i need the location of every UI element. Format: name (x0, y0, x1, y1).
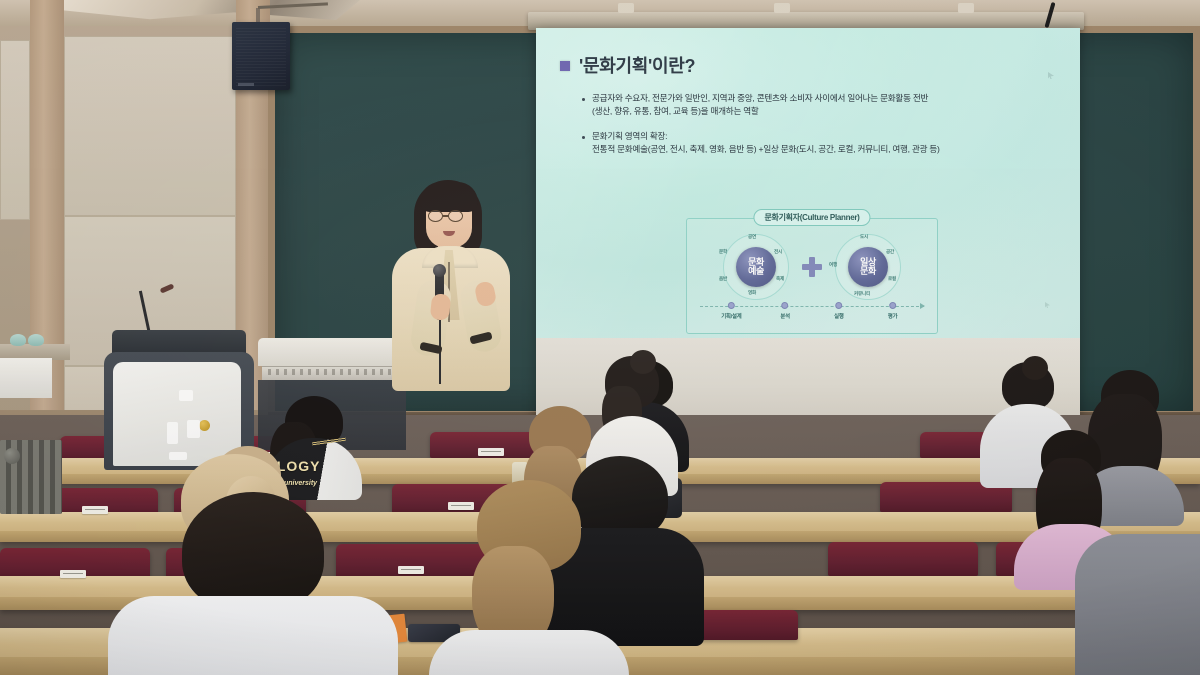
timeline-arrow-icon (920, 303, 925, 309)
timeline-pin-icon (835, 302, 842, 309)
student-top (108, 596, 398, 675)
student-hair-bun (630, 350, 656, 374)
bullet-line: 문화기획 영역의 확장: (592, 131, 667, 141)
satellite-label: 문학 (719, 249, 727, 255)
satellite-label: 커뮤니티 (854, 291, 870, 297)
culture-art-circle: 문화 예술 (736, 247, 776, 287)
bullet-line: 전통적 문화예술(공연, 전시, 축제, 영화, 음반 등) +일상 문화(도시… (592, 143, 940, 156)
keyboard-icon (268, 369, 394, 375)
cup-icon (28, 334, 44, 346)
eyeglasses-icon (428, 210, 443, 222)
screen-mount (618, 3, 634, 13)
wall-pillar (30, 0, 64, 470)
presenter-fringe (420, 182, 478, 212)
circle-label-line: 예술 (748, 267, 764, 276)
lectern-emblem-icon (199, 420, 210, 431)
square-bullet-icon (560, 61, 570, 71)
satellite-label: 공연 (748, 234, 756, 240)
presenter (386, 176, 516, 391)
lectern-sticker (187, 420, 200, 438)
seat-number-plate (82, 506, 108, 514)
wall-speaker-icon (232, 22, 290, 90)
student-front-center (118, 492, 388, 675)
lecture-hall-photo: '문화기획'이란? 공급자와 수요자, 전문가와 일반인, 지역과 중앙, 콘텐… (0, 0, 1200, 675)
timeline-step: 분석 (780, 300, 790, 320)
slide-bullet: 문화기획 영역의 확장: 전통적 문화예술(공연, 전시, 축제, 영화, 음반… (582, 130, 1058, 157)
microphone-head-icon (433, 264, 446, 277)
satellite-label: 축제 (776, 276, 784, 282)
satellite-label: 여행 (829, 262, 837, 268)
satellite-label: 전시 (774, 249, 782, 255)
storage-box (0, 358, 52, 398)
bullet-line: 공급자와 수요자, 전문가와 일반인, 지역과 중앙, 콘텐츠와 소비자 사이에… (592, 93, 928, 103)
timeline-pin-icon (782, 302, 789, 309)
diagram-right-group: 도시 공간 로컬 커뮤니티 여행 일상 문화 (828, 234, 908, 300)
timeline-step-label: 평가 (888, 312, 898, 320)
seat-number-plate (398, 566, 424, 574)
wall-panel (0, 40, 30, 220)
slide-bullet-text: 공급자와 수요자, 전문가와 일반인, 지역과 중앙, 콘텐츠와 소비자 사이에… (592, 92, 928, 119)
diagram-title-badge: 문화기획자(Culture Planner) (753, 209, 870, 226)
satellite-label: 공간 (886, 249, 894, 255)
slide-title: '문화기획'이란? (579, 52, 695, 78)
timeline-step-label: 분석 (780, 312, 790, 320)
slide-bullet-text: 문화기획 영역의 확장: 전통적 문화예술(공연, 전시, 축제, 영화, 음반… (592, 130, 940, 157)
bullet-line: (생산, 향유, 유통, 참여, 교육 등)을 매개하는 역할 (592, 105, 928, 118)
slide-diagram: 문화기획자(Culture Planner) 공연 전시 축제 영화 음반 문학… (686, 218, 938, 334)
slide-bullet: 공급자와 수요자, 전문가와 일반인, 지역과 중앙, 콘텐츠와 소비자 사이에… (582, 92, 1058, 119)
satellite-label: 로컬 (888, 276, 896, 282)
eyeglasses-bridge (443, 215, 449, 217)
screen-mount (958, 3, 974, 13)
slide-bullet-list: 공급자와 수요자, 전문가와 일반인, 지역과 중앙, 콘텐츠와 소비자 사이에… (560, 92, 1058, 156)
screen-mount (774, 3, 790, 13)
timeline-step-label: 실행 (834, 312, 844, 320)
radiator-valve-icon (4, 448, 20, 464)
diagram-timeline: 기획/설계 분석 실행 평가 (700, 300, 924, 326)
speaker-brand-mark (238, 83, 254, 86)
diagram-left-group: 공연 전시 축제 영화 음반 문학 문화 예술 (716, 234, 796, 300)
presentation-slide: '문화기획'이란? 공급자와 수요자, 전문가와 일반인, 지역과 중앙, 콘텐… (536, 28, 1080, 338)
slide-title-row: '문화기획'이란? (560, 52, 1058, 78)
student-top (429, 630, 629, 675)
student-hair (182, 492, 324, 612)
eyeglasses-icon (448, 210, 463, 222)
satellite-label: 음반 (719, 276, 727, 282)
speaker-grille (236, 26, 286, 86)
av-desk-top (258, 338, 406, 366)
satellite-label: 도시 (860, 234, 868, 240)
cup-icon (10, 334, 26, 346)
timeline-step: 기획/설계 (721, 300, 741, 320)
mouse-cursor-icon (1045, 302, 1050, 308)
timeline-step: 평가 (888, 300, 898, 320)
timeline-step-label: 기획/설계 (721, 312, 741, 320)
seat-number-plate (60, 570, 86, 578)
timeline-step: 실행 (834, 300, 844, 320)
student-ponytail-foreground (436, 480, 622, 675)
seat-number-plate (478, 448, 504, 456)
wall-panel (64, 36, 236, 216)
bullet-dot-icon (582, 98, 585, 101)
timeline-pin-icon (728, 302, 735, 309)
satellite-label: 영화 (748, 290, 756, 296)
student-foreground-right (1080, 534, 1200, 675)
diagram-venn: 공연 전시 축제 영화 음반 문학 문화 예술 도시 (694, 234, 930, 300)
student-top (1075, 534, 1200, 675)
seat-back (828, 542, 978, 576)
daily-culture-circle: 일상 문화 (848, 247, 888, 287)
lectern-sticker (179, 390, 193, 401)
timeline-pin-icon (889, 302, 896, 309)
student-hair-bun (1022, 356, 1048, 380)
circle-label-line: 문화 (860, 267, 876, 276)
bullet-dot-icon (582, 136, 585, 139)
plus-icon (802, 257, 822, 277)
lectern-sticker (167, 422, 178, 444)
